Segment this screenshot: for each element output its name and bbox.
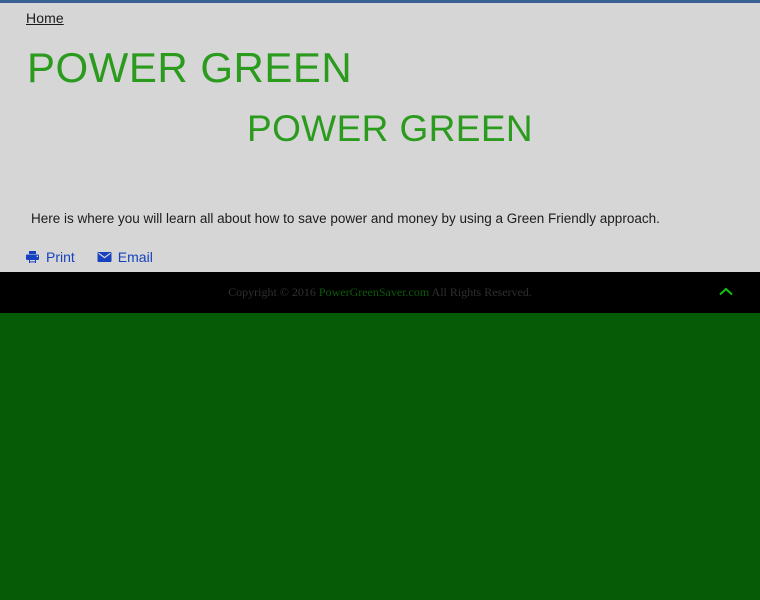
back-to-top-button[interactable] — [716, 283, 736, 301]
page-title-secondary: POWER GREEN — [247, 106, 533, 152]
printer-icon — [25, 250, 40, 264]
copyright-notice: Copyright © 2016 PowerGreenSaver.com All… — [0, 285, 760, 300]
page-title-primary: POWER GREEN — [27, 43, 352, 93]
copyright-suffix: All Rights Reserved. — [429, 285, 532, 299]
print-link[interactable]: Print — [25, 248, 75, 266]
print-link-label: Print — [46, 248, 75, 266]
footer-bar: Copyright © 2016 PowerGreenSaver.com All… — [0, 272, 760, 313]
breadcrumb-home-link[interactable]: Home — [26, 9, 64, 27]
email-link-label: Email — [118, 248, 153, 266]
chevron-up-icon — [717, 286, 735, 298]
email-link[interactable]: Email — [97, 248, 153, 266]
green-background-area — [0, 313, 760, 600]
action-links: Print Email — [25, 248, 153, 266]
copyright-brand[interactable]: PowerGreenSaver.com — [319, 285, 429, 299]
intro-paragraph: Here is where you will learn all about h… — [31, 209, 660, 228]
copyright-prefix: Copyright © 2016 — [228, 285, 319, 299]
envelope-icon — [97, 251, 112, 263]
content-panel: Home POWER GREEN POWER GREEN Here is whe… — [0, 3, 760, 272]
